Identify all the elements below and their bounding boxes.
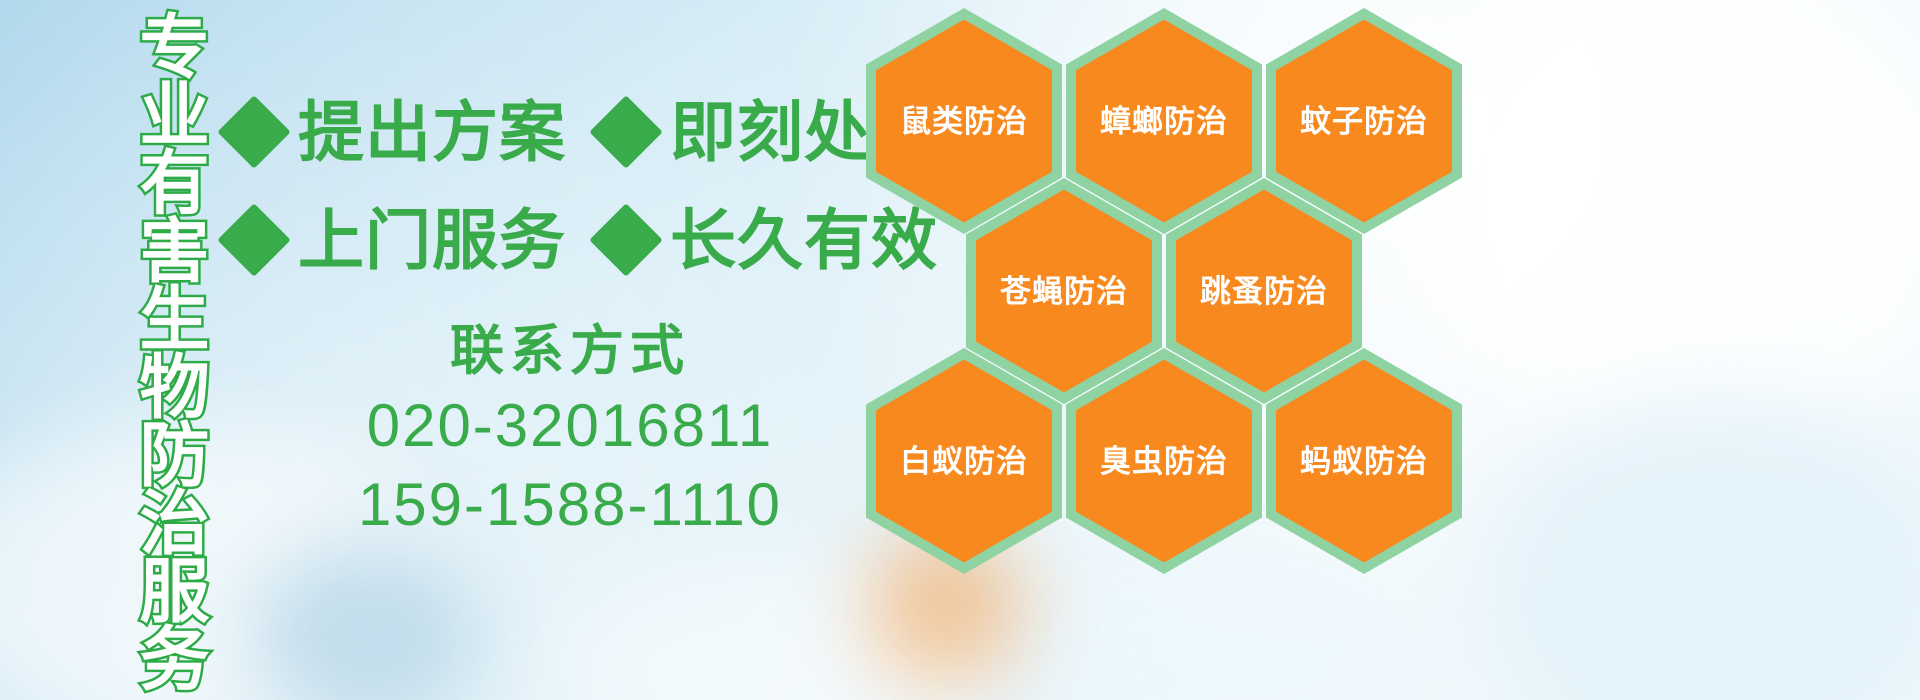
service-label: 鼠类防治 bbox=[900, 106, 1028, 137]
hex-inner: 苍蝇防治 bbox=[976, 190, 1152, 393]
contact-title: 联系方式 bbox=[300, 318, 840, 386]
diamond-icon bbox=[589, 203, 663, 277]
feature-list: 提出方案 即刻处理 上门服务 长久有效 bbox=[228, 78, 868, 294]
phone-number-landline[interactable]: 020-32016811 bbox=[300, 386, 840, 465]
hex-inner: 跳蚤防治 bbox=[1176, 190, 1352, 393]
background-bokeh-blob bbox=[1480, 400, 1920, 700]
feature-label: 上门服务 bbox=[298, 207, 566, 273]
service-label: 蟑螂防治 bbox=[1100, 106, 1228, 137]
service-label: 臭虫防治 bbox=[1100, 446, 1228, 477]
hex-inner: 蚊子防治 bbox=[1276, 20, 1452, 223]
hex-inner: 臭虫防治 bbox=[1076, 360, 1252, 563]
feature-row: 上门服务 长久有效 bbox=[228, 186, 868, 294]
service-label: 蚊子防治 bbox=[1300, 106, 1428, 137]
background-bokeh-blob bbox=[560, 560, 980, 700]
pest-control-banner: 专业有害生物防治服务 提出方案 即刻处理 上门服务 长久有效 联系方式 0 bbox=[0, 0, 1920, 700]
hex-inner: 白蚁防治 bbox=[876, 360, 1052, 563]
hex-inner: 鼠类防治 bbox=[876, 20, 1052, 223]
diamond-icon bbox=[217, 95, 291, 169]
vertical-headline: 专业有害生物防治服务 bbox=[108, 10, 204, 690]
diamond-icon bbox=[589, 95, 663, 169]
background-bokeh-blob bbox=[250, 540, 480, 700]
feature-item-propose-plan: 提出方案 bbox=[228, 99, 566, 165]
feature-row: 提出方案 即刻处理 bbox=[228, 78, 868, 186]
diamond-icon bbox=[217, 203, 291, 277]
feature-label: 提出方案 bbox=[298, 99, 566, 165]
phone-number-mobile[interactable]: 159-1588-1110 bbox=[300, 465, 840, 544]
service-label: 苍蝇防治 bbox=[1000, 276, 1128, 307]
service-label: 跳蚤防治 bbox=[1200, 276, 1328, 307]
hex-inner: 蚂蚁防治 bbox=[1276, 360, 1452, 563]
service-label: 白蚁防治 bbox=[900, 446, 1028, 477]
contact-block: 联系方式 020-32016811 159-1588-1110 bbox=[300, 318, 840, 544]
feature-item-onsite-service: 上门服务 bbox=[228, 207, 566, 273]
background-bokeh-blob bbox=[1420, 0, 1920, 460]
background-bokeh-blob bbox=[1060, 560, 1420, 700]
service-honeycomb: 鼠类防治 蟑螂防治 蚊子防治 苍蝇防治 跳蚤防治 白蚁防治 bbox=[862, 0, 1462, 580]
service-label: 蚂蚁防治 bbox=[1300, 446, 1428, 477]
hex-inner: 蟑螂防治 bbox=[1076, 20, 1252, 223]
